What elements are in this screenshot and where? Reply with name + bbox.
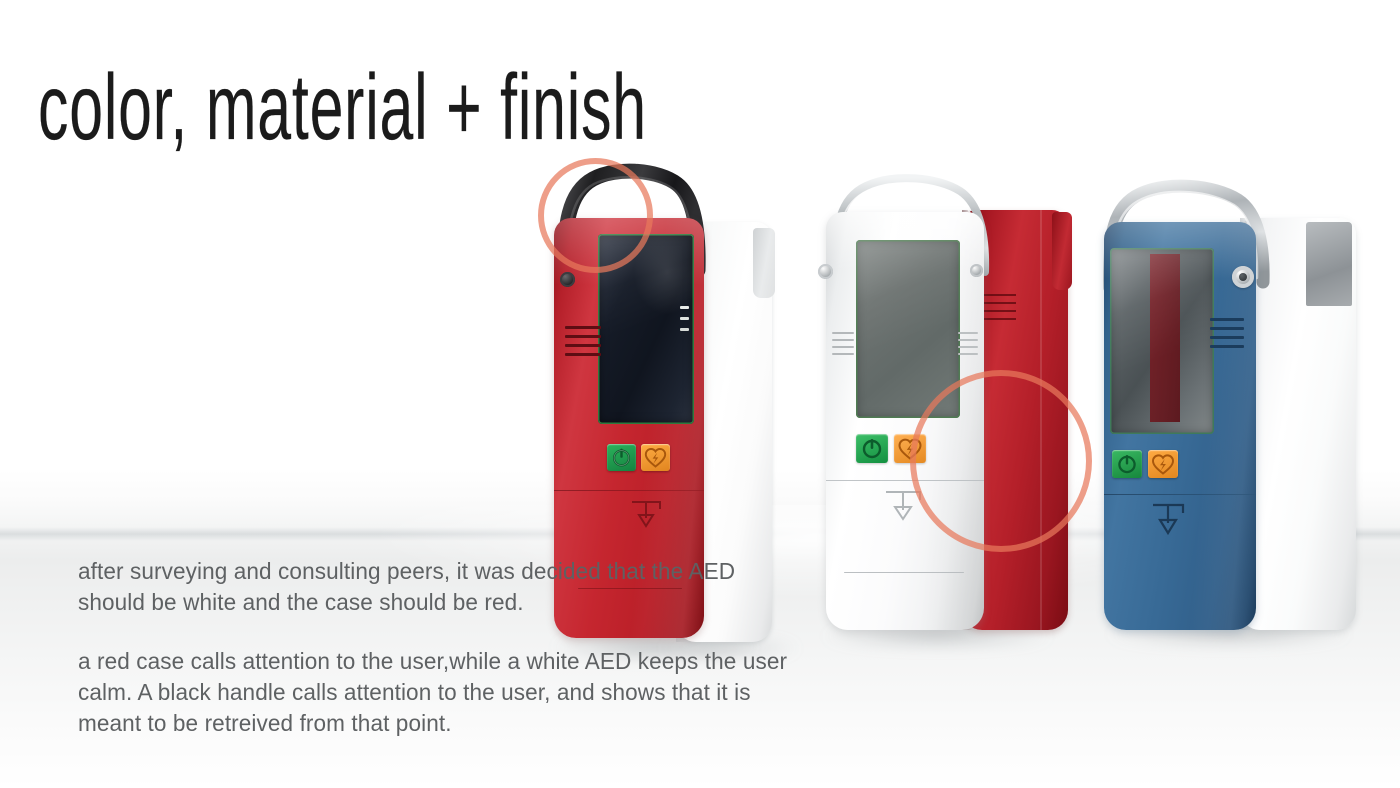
- power-button[interactable]: [607, 444, 636, 471]
- handle-pivot-boss: [560, 272, 575, 287]
- heart-shock-icon: [641, 444, 670, 471]
- slide-canvas: color, material + finish: [0, 0, 1400, 788]
- variant-red-aed: [540, 160, 830, 520]
- aed-vent-slots: [565, 326, 601, 356]
- down-arrow-icon: [1144, 500, 1192, 540]
- paragraph-color-decision: after surveying and consulting peers, it…: [78, 556, 788, 618]
- screen-indicator: [680, 317, 689, 320]
- sleeve-grip-tab: [1052, 212, 1072, 290]
- pull-arrow-indicator: [1144, 500, 1192, 540]
- shock-button[interactable]: [641, 444, 670, 471]
- shock-button[interactable]: [1148, 450, 1178, 478]
- heart-shock-icon: [1148, 450, 1178, 478]
- body-copy-block: after surveying and consulting peers, it…: [78, 556, 788, 739]
- sleeve-grip-tab: [753, 228, 775, 298]
- power-button[interactable]: [856, 434, 888, 463]
- annotation-handle: [538, 158, 653, 273]
- aed-vent-slots: [958, 332, 978, 355]
- variant-white-aed: [810, 172, 1100, 522]
- case-release-slot: [844, 572, 964, 573]
- annotation-case: [910, 370, 1092, 552]
- handle-pivot-boss: [818, 264, 833, 279]
- handle-pivot-boss: [970, 264, 983, 277]
- screen-reflection: [1110, 248, 1214, 434]
- paragraph-rationale: a red case calls attention to the user,w…: [78, 646, 788, 739]
- battery-seam: [554, 490, 704, 491]
- sleeve-opening: [1306, 222, 1352, 306]
- down-arrow-icon: [626, 496, 668, 532]
- aed-vent-slots: [832, 332, 854, 355]
- power-icon: [1112, 450, 1142, 478]
- power-icon: [607, 444, 636, 471]
- handle-pivot-boss: [1232, 266, 1254, 288]
- battery-seam: [1104, 494, 1256, 495]
- screen-indicator: [680, 328, 689, 331]
- power-button[interactable]: [1112, 450, 1142, 478]
- power-icon: [856, 434, 888, 463]
- aed-screen: [1110, 248, 1214, 434]
- pull-arrow-indicator: [626, 496, 668, 532]
- screen-indicator: [680, 306, 689, 309]
- aed-vent-slots: [1210, 318, 1244, 348]
- variant-blue-aed: [1090, 182, 1390, 522]
- pivot-pin: [1239, 273, 1247, 281]
